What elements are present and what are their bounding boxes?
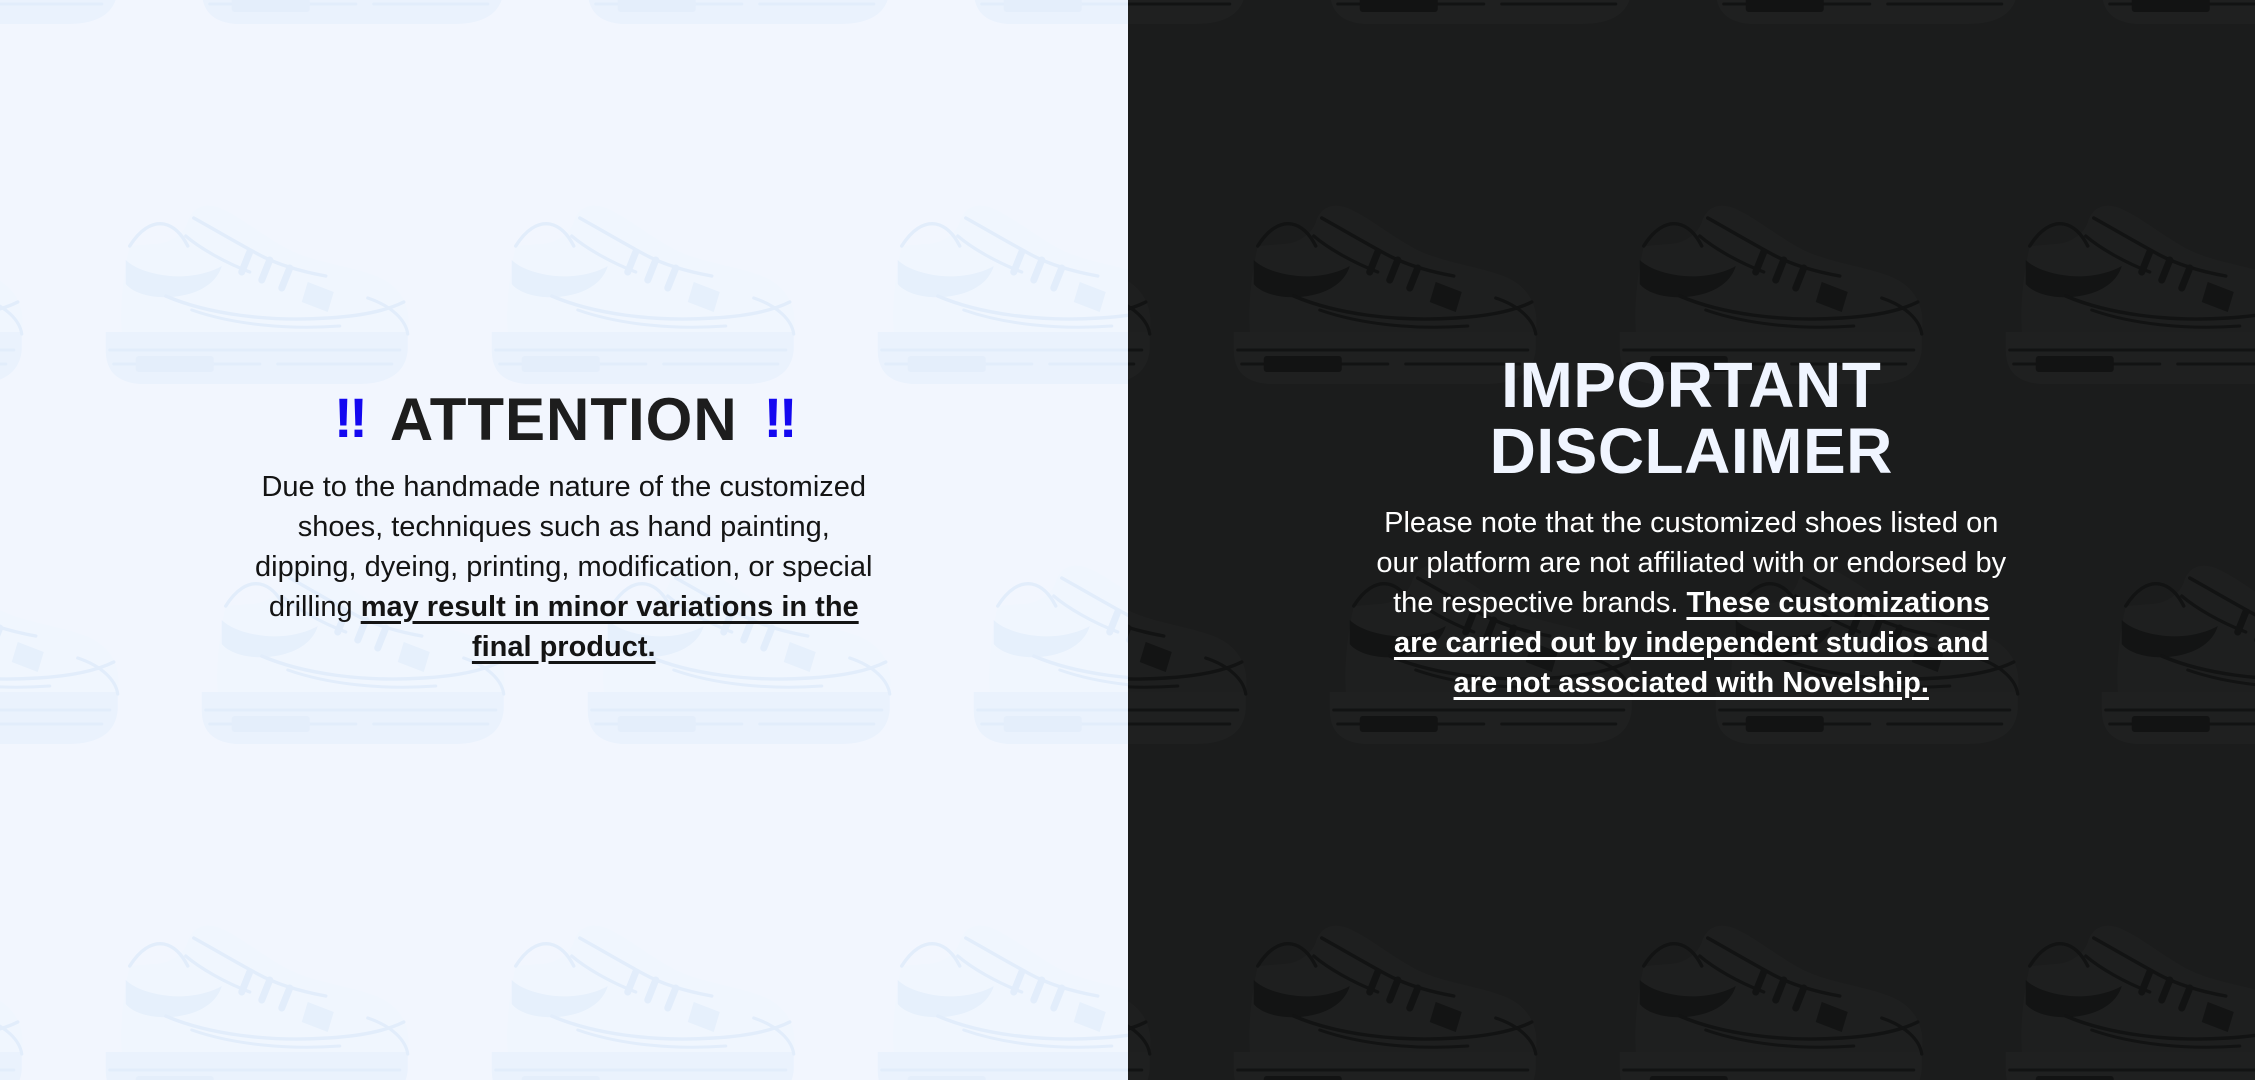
disclaimer-heading: IMPORTANT DISCLAIMER bbox=[1371, 353, 2011, 485]
disclaimer-body: Please note that the customized shoes li… bbox=[1371, 503, 2011, 703]
disclaimer-content: IMPORTANT DISCLAIMER Please note that th… bbox=[1128, 353, 2255, 703]
disclaimer-heading-line1: IMPORTANT bbox=[1501, 349, 1881, 421]
attention-body: Due to the handmade nature of the custom… bbox=[254, 467, 874, 667]
double-exclamation-right-icon: ‼ bbox=[764, 390, 794, 446]
disclaimer-banner: ‼ ATTENTION ‼ Due to the handmade nature… bbox=[0, 0, 2255, 1080]
double-exclamation-left-icon: ‼ bbox=[334, 390, 364, 446]
attention-content: ‼ ATTENTION ‼ Due to the handmade nature… bbox=[0, 389, 1128, 667]
disclaimer-heading-line2: DISCLAIMER bbox=[1490, 415, 1893, 487]
attention-title-text: ATTENTION bbox=[390, 389, 738, 451]
disclaimer-panel: IMPORTANT DISCLAIMER Please note that th… bbox=[1128, 0, 2255, 1080]
attention-body-emphasis: may result in minor variations in the fi… bbox=[361, 591, 859, 663]
attention-panel: ‼ ATTENTION ‼ Due to the handmade nature… bbox=[0, 0, 1128, 1080]
attention-heading: ‼ ATTENTION ‼ bbox=[60, 389, 1068, 451]
